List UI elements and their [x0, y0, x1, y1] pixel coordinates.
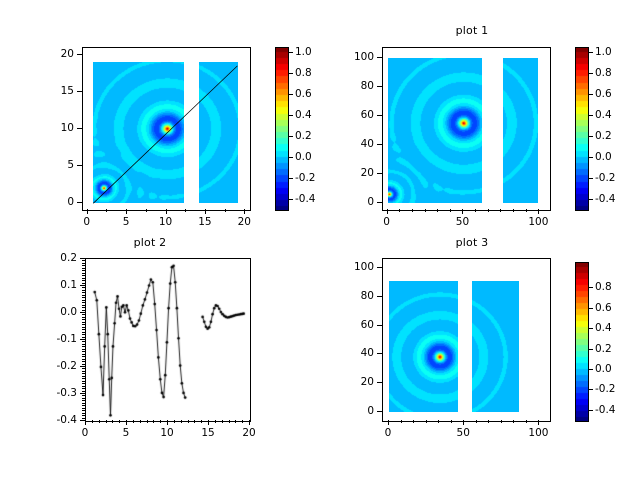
minor-xtick — [500, 209, 501, 212]
major-xtick — [388, 420, 389, 425]
minor-ytick — [82, 332, 85, 333]
minor-xtick — [99, 420, 100, 423]
xtick-label: 0 — [383, 216, 390, 228]
minor-ytick — [82, 403, 85, 404]
colorbar-tick — [288, 115, 293, 116]
xtick-label: 5 — [123, 427, 130, 439]
colorbar-label: 0.6 — [295, 88, 312, 100]
major-xtick — [462, 209, 463, 214]
minor-ytick — [82, 346, 85, 347]
minor-xtick — [513, 209, 514, 212]
minor-xtick — [426, 420, 427, 423]
panel-plot3: plot 3 050100020406080100 -0.4-0.20.00.2… — [320, 240, 640, 480]
colorbar-tick — [588, 178, 593, 179]
xtick-label: 15 — [201, 427, 214, 439]
minor-xtick — [140, 420, 141, 423]
colorbar-tick — [588, 389, 593, 390]
minor-ytick — [82, 280, 85, 281]
plot2-axes — [85, 258, 251, 422]
major-ytick — [77, 165, 82, 166]
colorbar-tick — [288, 73, 293, 74]
minor-ytick — [82, 287, 85, 288]
colorbar-label: -0.2 — [595, 172, 616, 184]
minor-ytick — [82, 334, 85, 335]
colorbar-label: 0.6 — [595, 302, 612, 314]
minor-ytick — [82, 395, 85, 396]
minor-ytick — [82, 413, 85, 414]
colorbar-label: 0.0 — [595, 363, 612, 375]
colorbar-gradient — [576, 263, 588, 421]
colorbar-label: 0.8 — [595, 67, 612, 79]
colorbar-label: -0.2 — [595, 383, 616, 395]
minor-ytick — [82, 398, 85, 399]
ytick-label: -0.4 — [43, 414, 77, 426]
heatmap-image — [503, 58, 538, 203]
minor-xtick — [215, 420, 216, 423]
major-xtick — [126, 420, 127, 425]
panel-plot2: plot 2 05101520-0.4-0.3-0.2-0.10.00.10.2 — [0, 240, 320, 480]
colorbar-label: 0.4 — [595, 322, 612, 334]
minor-ytick — [82, 297, 85, 298]
colorbar-tick — [588, 115, 593, 116]
colorbar-tick — [588, 328, 593, 329]
minor-ytick — [82, 295, 85, 296]
xtick-label: 0 — [82, 427, 89, 439]
major-ytick — [377, 353, 382, 354]
minor-ytick — [82, 344, 85, 345]
colorbar-label: 1.0 — [595, 46, 612, 58]
minor-ytick — [82, 408, 85, 409]
ytick-label: 0.0 — [43, 306, 77, 318]
colorbar-tick — [588, 157, 593, 158]
minor-xtick — [450, 209, 451, 212]
major-ytick — [77, 202, 82, 203]
major-ytick — [77, 91, 82, 92]
major-ytick — [377, 57, 382, 58]
xtick-label: 20 — [238, 216, 251, 228]
minor-ytick — [82, 324, 85, 325]
major-xtick — [208, 420, 209, 425]
minor-ytick — [82, 415, 85, 416]
minor-ytick — [82, 263, 85, 264]
minor-ytick — [82, 373, 85, 374]
major-xtick — [463, 420, 464, 425]
minor-xtick — [235, 420, 236, 423]
colorbar-tick — [288, 157, 293, 158]
ytick-label: 60 — [340, 319, 374, 331]
minor-ytick — [82, 349, 85, 350]
minor-ytick — [82, 337, 85, 338]
colorbar-tick — [288, 52, 293, 53]
minor-ytick — [82, 260, 85, 261]
minor-ytick — [82, 329, 85, 330]
xtick-label: 5 — [123, 216, 130, 228]
minor-xtick — [160, 420, 161, 423]
ytick-label: 100 — [340, 261, 374, 273]
major-xtick — [387, 209, 388, 214]
colorbar-tick — [288, 94, 293, 95]
plot2-line-series — [86, 259, 251, 422]
minor-xtick — [526, 209, 527, 212]
minor-xtick — [119, 420, 120, 423]
major-ytick — [377, 267, 382, 268]
ytick-label: -0.2 — [43, 360, 77, 372]
minor-ytick — [82, 292, 85, 293]
minor-xtick — [229, 420, 230, 423]
xtick-label: 100 — [528, 216, 548, 228]
minor-ytick — [82, 359, 85, 360]
colorbar-label: -0.2 — [295, 172, 316, 184]
colorbar-tick — [588, 287, 593, 288]
colorbar-tick — [588, 369, 593, 370]
minor-xtick — [106, 209, 107, 212]
colorbar-label: 0.8 — [295, 67, 312, 79]
ytick-label: 15 — [40, 85, 74, 97]
ytick-label: 60 — [340, 109, 374, 121]
colorbar-tick — [588, 73, 593, 74]
minor-ytick — [82, 302, 85, 303]
minor-ytick — [82, 314, 85, 315]
minor-ytick — [82, 305, 85, 306]
ytick-label: 20 — [340, 167, 374, 179]
colorbar-label: 0.4 — [295, 109, 312, 121]
minor-ytick — [82, 265, 85, 266]
minor-ytick — [82, 341, 85, 342]
ytick-label: 10 — [40, 122, 74, 134]
ytick-label: 40 — [340, 347, 374, 359]
colorbar-gradient — [276, 48, 288, 210]
xtick-label: 10 — [159, 216, 172, 228]
minor-xtick — [112, 420, 113, 423]
minor-ytick — [82, 351, 85, 352]
minor-ytick — [82, 364, 85, 365]
minor-ytick — [82, 418, 85, 419]
xtick-label: 0 — [83, 216, 90, 228]
major-ytick — [80, 312, 85, 313]
minor-ytick — [82, 388, 85, 389]
colorbar-tick — [588, 199, 593, 200]
colorbar-label: 0.0 — [295, 151, 312, 163]
major-xtick — [538, 420, 539, 425]
xtick-label: 0 — [385, 427, 392, 439]
major-xtick — [126, 209, 127, 214]
major-xtick — [87, 209, 88, 214]
ytick-label: 0 — [40, 196, 74, 208]
minor-ytick — [82, 410, 85, 411]
ytick-label: 80 — [340, 290, 374, 302]
major-xtick — [167, 420, 168, 425]
major-ytick — [80, 339, 85, 340]
xtick-label: 100 — [528, 427, 548, 439]
major-xtick — [85, 420, 86, 425]
xtick-label: 20 — [242, 427, 255, 439]
major-ytick — [377, 382, 382, 383]
colorbar-label: 0.2 — [295, 130, 312, 142]
panel-plot1: plot 1 050100020406080100 -0.4-0.20.00.2… — [320, 0, 640, 240]
major-xtick — [205, 209, 206, 214]
colorbar-label: 0.4 — [595, 109, 612, 121]
major-ytick — [377, 325, 382, 326]
minor-ytick — [82, 310, 85, 311]
ytick-label: 0 — [340, 196, 374, 208]
minor-ytick — [82, 371, 85, 372]
minor-xtick — [188, 420, 189, 423]
ytick-label: 20 — [340, 376, 374, 388]
colorbar-label: -0.4 — [295, 193, 316, 205]
xtick-label: 50 — [457, 427, 470, 439]
minor-xtick — [501, 420, 502, 423]
minor-ytick — [82, 270, 85, 271]
minor-xtick — [133, 420, 134, 423]
ytick-label: 20 — [40, 48, 74, 60]
minor-ytick — [82, 275, 85, 276]
minor-xtick — [475, 209, 476, 212]
colorbar-label: -0.4 — [595, 193, 616, 205]
minor-xtick — [146, 209, 147, 212]
ytick-label: -0.1 — [43, 333, 77, 345]
colorbar-label: 1.0 — [295, 46, 312, 58]
xtick-label: 15 — [198, 216, 211, 228]
ytick-label: 40 — [340, 138, 374, 150]
minor-xtick — [201, 420, 202, 423]
minor-xtick — [399, 209, 400, 212]
colorbar-label: 0.2 — [595, 130, 612, 142]
plot2-title: plot 2 — [40, 236, 260, 249]
minor-xtick — [488, 420, 489, 423]
plot0-axes — [82, 47, 251, 211]
minor-ytick — [82, 378, 85, 379]
minor-xtick — [106, 420, 107, 423]
colorbar-tick — [288, 178, 293, 179]
minor-xtick — [185, 209, 186, 212]
minor-xtick — [225, 209, 226, 212]
minor-xtick — [147, 420, 148, 423]
colorbar-tick — [588, 94, 593, 95]
ytick-label: 0 — [340, 405, 374, 417]
colorbar-tick — [288, 199, 293, 200]
minor-ytick — [82, 405, 85, 406]
minor-xtick — [181, 420, 182, 423]
major-ytick — [77, 54, 82, 55]
figure-canvas: 0510152005101520 -0.4-0.20.00.20.40.60.8… — [0, 0, 640, 480]
minor-ytick — [82, 386, 85, 387]
heatmap-block — [472, 281, 519, 412]
minor-ytick — [82, 283, 85, 284]
major-ytick — [80, 258, 85, 259]
minor-ytick — [82, 361, 85, 362]
colorbar-tick — [588, 308, 593, 309]
colorbar-tick — [288, 136, 293, 137]
minor-ytick — [82, 319, 85, 320]
minor-ytick — [82, 391, 85, 392]
minor-xtick — [92, 420, 93, 423]
minor-xtick — [222, 420, 223, 423]
minor-ytick — [82, 273, 85, 274]
minor-ytick — [82, 322, 85, 323]
ytick-label: 0.1 — [43, 279, 77, 291]
minor-xtick — [476, 420, 477, 423]
major-xtick — [538, 209, 539, 214]
diagonal-annotation-line — [83, 48, 250, 210]
major-xtick — [249, 420, 250, 425]
minor-ytick — [82, 400, 85, 401]
minor-xtick — [451, 420, 452, 423]
minor-ytick — [82, 300, 85, 301]
major-ytick — [377, 144, 382, 145]
major-ytick — [77, 128, 82, 129]
colorbar-label: 0.8 — [595, 281, 612, 293]
minor-ytick — [82, 290, 85, 291]
major-ytick — [377, 411, 382, 412]
colorbar-label: -0.4 — [595, 404, 616, 416]
panel-plot0: 0510152005101520 -0.4-0.20.00.20.40.60.8… — [0, 0, 320, 240]
minor-ytick — [82, 317, 85, 318]
major-ytick — [80, 366, 85, 367]
minor-xtick — [438, 420, 439, 423]
ytick-label: 0.2 — [43, 252, 77, 264]
minor-xtick — [513, 420, 514, 423]
minor-xtick — [153, 420, 154, 423]
minor-xtick — [488, 209, 489, 212]
minor-ytick — [82, 327, 85, 328]
minor-xtick — [413, 420, 414, 423]
plot0-colorbar — [275, 47, 289, 211]
xtick-label: 50 — [456, 216, 469, 228]
major-ytick — [80, 420, 85, 421]
heatmap-image — [472, 281, 519, 412]
colorbar-tick — [588, 349, 593, 350]
minor-ytick — [82, 354, 85, 355]
xtick-label: 10 — [160, 427, 173, 439]
minor-xtick — [526, 420, 527, 423]
plot3-title: plot 3 — [362, 236, 582, 249]
colorbar-gradient — [576, 48, 588, 210]
colorbar-tick — [588, 136, 593, 137]
major-ytick — [377, 86, 382, 87]
plot3-axes — [382, 258, 551, 422]
major-ytick — [80, 393, 85, 394]
major-ytick — [80, 285, 85, 286]
colorbar-tick — [588, 410, 593, 411]
minor-xtick — [412, 209, 413, 212]
major-xtick — [166, 209, 167, 214]
major-ytick — [377, 115, 382, 116]
ytick-label: -0.3 — [43, 387, 77, 399]
minor-xtick — [194, 420, 195, 423]
ytick-label: 80 — [340, 80, 374, 92]
major-ytick — [377, 296, 382, 297]
heatmap-image — [388, 58, 482, 203]
minor-ytick — [82, 376, 85, 377]
minor-xtick — [425, 209, 426, 212]
heatmap-block — [389, 281, 458, 412]
major-ytick — [377, 173, 382, 174]
minor-ytick — [82, 383, 85, 384]
minor-ytick — [82, 368, 85, 369]
minor-xtick — [242, 420, 243, 423]
plot3-colorbar — [575, 262, 589, 422]
minor-xtick — [401, 420, 402, 423]
ytick-label: 100 — [340, 51, 374, 63]
ytick-label: 5 — [40, 159, 74, 171]
plot1-title: plot 1 — [362, 24, 582, 37]
minor-ytick — [82, 307, 85, 308]
major-xtick — [244, 209, 245, 214]
minor-ytick — [82, 356, 85, 357]
minor-ytick — [82, 268, 85, 269]
colorbar-label: 0.0 — [595, 151, 612, 163]
colorbar-label: 0.6 — [595, 88, 612, 100]
colorbar-label: 0.2 — [595, 343, 612, 355]
plot1-colorbar — [575, 47, 589, 211]
plot1-axes — [382, 47, 551, 211]
heatmap-block — [503, 58, 538, 203]
major-ytick — [377, 202, 382, 203]
minor-ytick — [82, 381, 85, 382]
minor-xtick — [437, 209, 438, 212]
minor-xtick — [174, 420, 175, 423]
heatmap-image — [389, 281, 458, 412]
minor-ytick — [82, 278, 85, 279]
colorbar-tick — [588, 52, 593, 53]
heatmap-block — [388, 58, 482, 203]
